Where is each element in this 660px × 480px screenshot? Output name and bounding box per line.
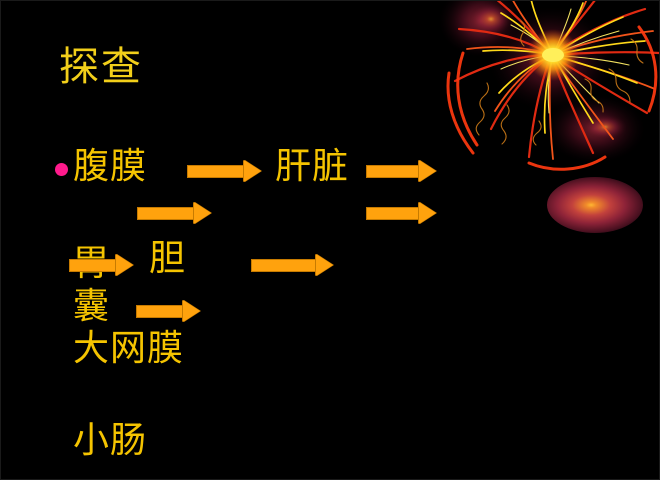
firework-streaks-gold-thin <box>501 9 629 113</box>
page-title: 探查 <box>59 45 143 89</box>
firework-streaks-red <box>455 0 659 157</box>
firework-graphic <box>433 0 660 173</box>
firework-squiggles <box>476 21 643 145</box>
text-nang: 囊 <box>73 289 110 325</box>
bullet-dot <box>55 163 68 176</box>
text-fumo: 腹膜 <box>73 149 147 185</box>
firework-streaks-orange <box>467 0 655 159</box>
slide-canvas: 探查 腹膜 肝脏 胃 胆 囊 大网膜 小肠 <box>0 0 660 480</box>
glow-ellipse-graphic <box>547 177 643 233</box>
text-ganzang: 肝脏 <box>275 149 349 185</box>
text-dawangmo: 大网膜 <box>73 331 184 367</box>
firework-core <box>542 48 564 62</box>
text-xiaochang: 小肠 <box>73 423 147 459</box>
firework-core-glow <box>527 29 579 81</box>
text-wei: 胃 <box>73 246 110 282</box>
firework-halos <box>439 0 645 163</box>
firework-ribbons <box>448 27 656 169</box>
text-dan: 胆 <box>149 241 186 277</box>
firework-streaks-yellow <box>483 0 645 133</box>
